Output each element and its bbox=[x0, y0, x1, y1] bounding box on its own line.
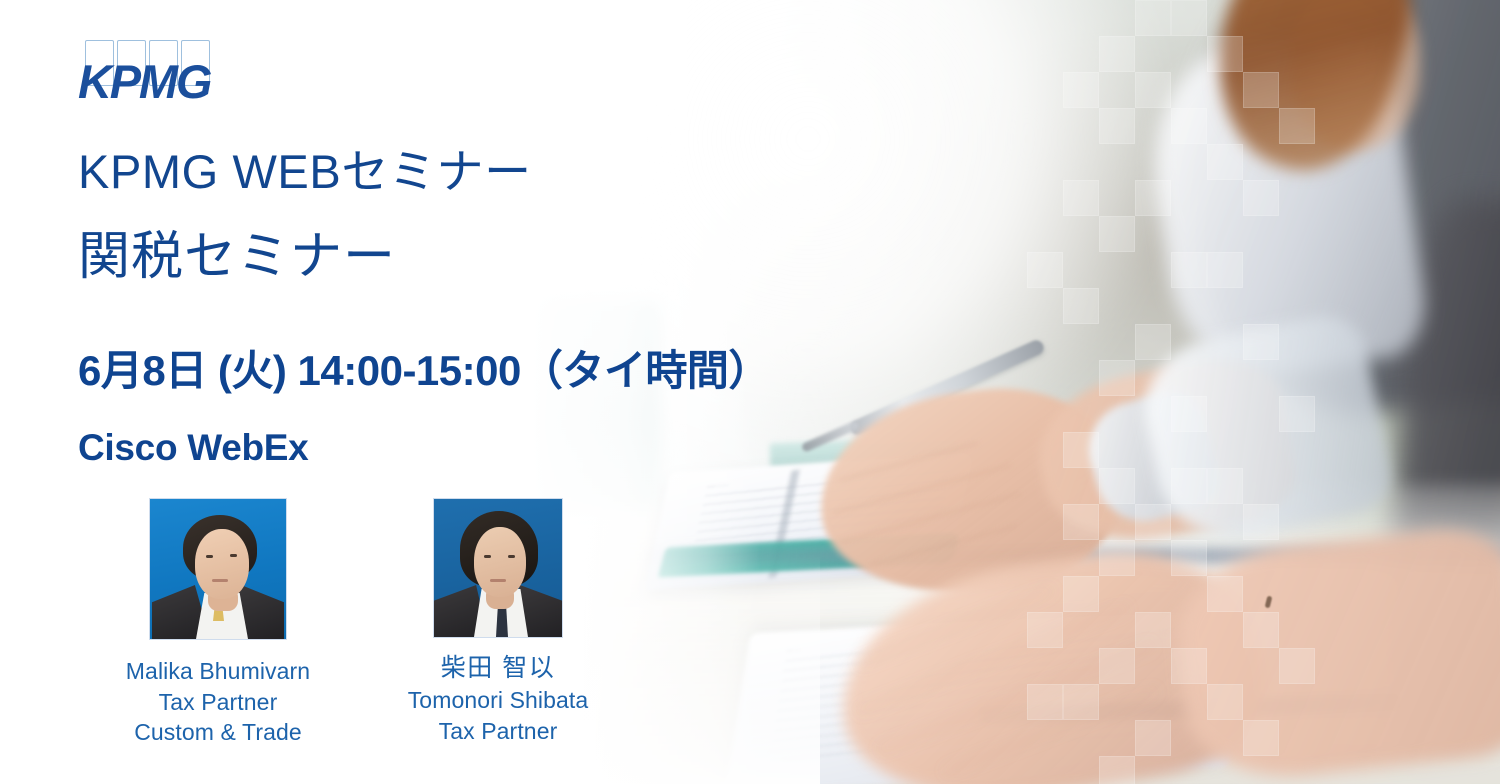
seminar-banner: KPMG KPMG WEBセミナー 関税セミナー 6月8日 (火) 14:00-… bbox=[0, 0, 1500, 784]
headshot-eye-right bbox=[508, 555, 515, 558]
speaker-name: Tomonori Shibata bbox=[408, 685, 589, 716]
speaker-card-malika-bhumivarn: Malika Bhumivarn Tax Partner Custom & Tr… bbox=[78, 498, 358, 748]
speaker-department: Custom & Trade bbox=[126, 717, 310, 748]
headshot-eye-right bbox=[230, 554, 237, 557]
headshot-face bbox=[195, 529, 249, 599]
speakers-list: Malika Bhumivarn Tax Partner Custom & Tr… bbox=[78, 498, 638, 748]
speaker-caption: 柴田 智以 Tomonori Shibata Tax Partner bbox=[408, 652, 589, 746]
speaker-card-tomonori-shibata: 柴田 智以 Tomonori Shibata Tax Partner bbox=[358, 498, 638, 748]
speaker-title: Tax Partner bbox=[126, 687, 310, 718]
headshot-tomonori-shibata bbox=[433, 498, 563, 638]
speaker-caption: Malika Bhumivarn Tax Partner Custom & Tr… bbox=[126, 656, 310, 748]
speaker-name-japanese: 柴田 智以 bbox=[408, 652, 589, 685]
event-datetime: 6月8日 (火) 14:00-15:00（タイ時間） bbox=[78, 348, 770, 394]
headshot-malika-bhumivarn bbox=[149, 498, 287, 640]
headshot-mouth bbox=[490, 579, 506, 582]
speaker-title: Tax Partner bbox=[408, 716, 589, 747]
kpmg-logo-wordmark: KPMG bbox=[78, 58, 210, 105]
headshot-mouth bbox=[212, 579, 228, 582]
headshot-face bbox=[474, 527, 526, 597]
banner-content: KPMG KPMG WEBセミナー 関税セミナー 6月8日 (火) 14:00-… bbox=[0, 0, 1500, 784]
kpmg-logo: KPMG bbox=[78, 40, 214, 112]
headshot-eye-left bbox=[484, 555, 491, 558]
seminar-topic-title: 関税セミナー bbox=[78, 228, 396, 288]
seminar-series-title: KPMG WEBセミナー bbox=[78, 145, 532, 199]
event-platform: Cisco WebEx bbox=[78, 428, 308, 469]
speaker-name: Malika Bhumivarn bbox=[126, 656, 310, 687]
headshot-eye-left bbox=[206, 555, 213, 558]
